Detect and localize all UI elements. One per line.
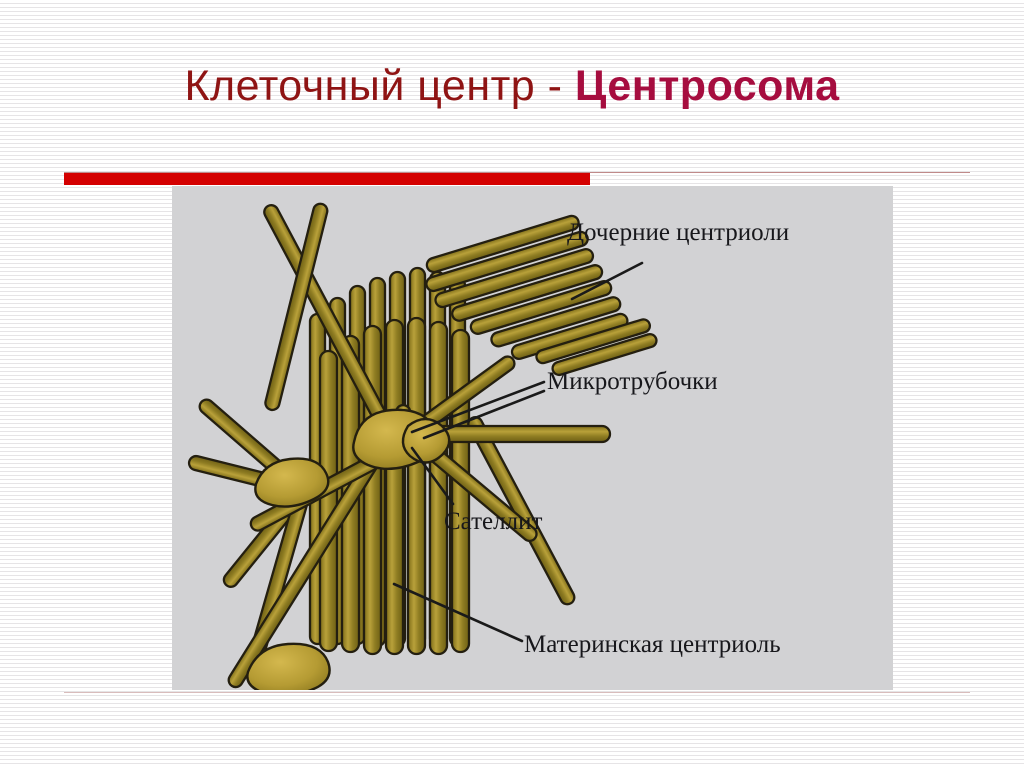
label-microtubules: Микротрубочки: [547, 368, 718, 395]
page-title-regular: Клеточный центр -: [184, 62, 574, 110]
label-satellite: Сателлит: [444, 508, 542, 535]
label-daughter-centrioles: Дочерние центриоли: [567, 219, 789, 246]
centrosome-diagram-image: Дочерние центриоли Микротрубочки Сателли…: [172, 186, 893, 690]
label-mother-centriole: Материнская центриоль: [524, 631, 781, 658]
footer-divider: [64, 692, 970, 693]
title-divider-thick: [64, 173, 590, 185]
page-title-bold: Центросома: [575, 62, 840, 110]
page-title: Клеточный центр - Центросома: [0, 62, 1024, 124]
